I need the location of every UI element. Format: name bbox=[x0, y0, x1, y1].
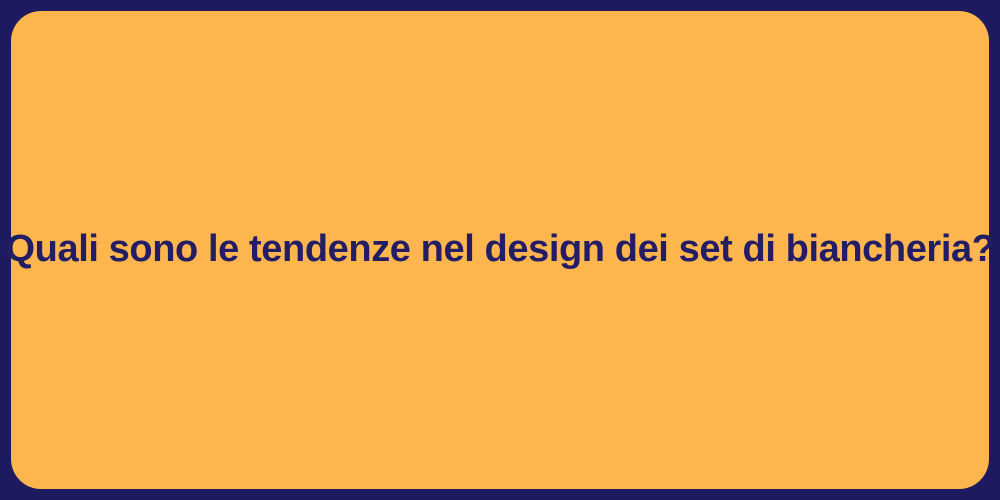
headline-question: Quali sono le tendenze nel design dei se… bbox=[0, 226, 1000, 274]
page-background: Quali sono le tendenze nel design dei se… bbox=[0, 0, 1000, 500]
question-card: Quali sono le tendenze nel design dei se… bbox=[11, 11, 989, 489]
